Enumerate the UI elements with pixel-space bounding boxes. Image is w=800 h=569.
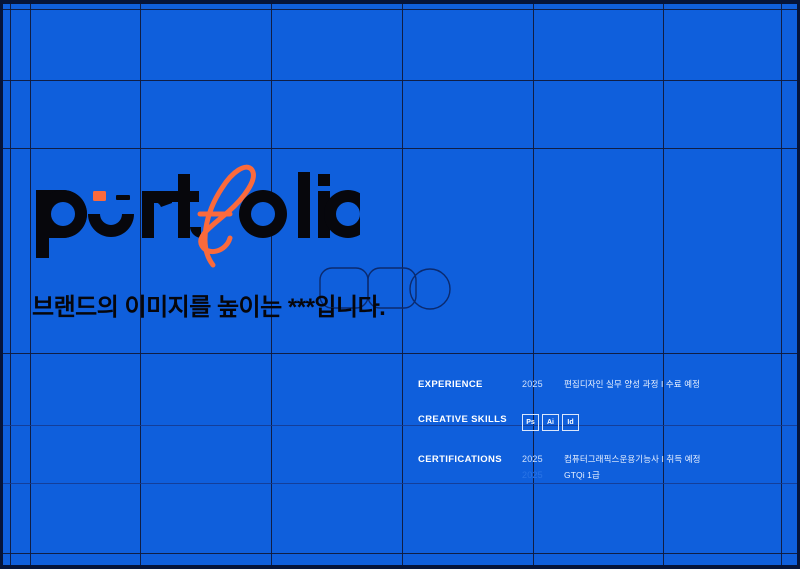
certification-entry-2: 2025 GTQi 1급 (522, 469, 778, 481)
grid-vline (781, 0, 782, 569)
grid-hline (0, 9, 800, 10)
info-desc-certification-1: 컴퓨터그래픽스운용기능사 I 취득 예정 (564, 453, 701, 465)
poster-frame-top (0, 0, 800, 4)
grid-hline (0, 353, 800, 354)
grid-vline (10, 0, 11, 569)
info-row-certifications: CERTIFICATIONS 2025 컴퓨터그래픽스운용기능사 I 취득 예정… (418, 453, 778, 481)
info-label-experience: EXPERIENCE (418, 378, 522, 391)
grid-hline (0, 483, 800, 484)
poster-frame-left (0, 0, 3, 569)
grid-hline (0, 148, 800, 149)
info-year-experience: 2025 (522, 378, 564, 390)
skill-badge-photoshop: Ps (522, 414, 539, 431)
info-row-creative-skills: CREATIVE SKILLS Ps Ai Id (418, 413, 778, 431)
grid-vline (533, 0, 534, 569)
info-year-certification-1: 2025 (522, 453, 564, 465)
info-year-certification-2: 2025 (522, 469, 564, 481)
info-label-creative-skills: CREATIVE SKILLS (418, 413, 522, 426)
info-row-experience: EXPERIENCE 2025 편집디자인 실무 양성 과정 I 수료 예정 (418, 378, 778, 391)
hero-tagline: 브랜드의 이미지를 높이는 ***입니다. (32, 287, 385, 322)
smiley-o-glyph (88, 191, 134, 237)
grid-hline (0, 553, 800, 554)
skill-badge-list: Ps Ai Id (522, 413, 579, 431)
info-label-certifications: CERTIFICATIONS (418, 453, 522, 466)
wordmark-portfolio (30, 150, 360, 280)
hero-wordmark-block (30, 150, 360, 280)
portfolio-poster: 브랜드의 이미지를 높이는 ***입니다. EXPERIENCE 2025 편집… (0, 0, 800, 569)
info-desc-certification-2: GTQi 1급 (564, 469, 600, 481)
grid-vline (663, 0, 664, 569)
info-panel: EXPERIENCE 2025 편집디자인 실무 양성 과정 I 수료 예정 C… (418, 378, 778, 481)
poster-frame-bottom (0, 565, 800, 569)
certification-entry-1: 2025 컴퓨터그래픽스운용기능사 I 취득 예정 (522, 453, 778, 465)
info-desc-experience: 편집디자인 실무 양성 과정 I 수료 예정 (564, 378, 700, 390)
grid-hline (0, 80, 800, 81)
skill-badge-illustrator: Ai (542, 414, 559, 431)
skill-badge-indesign: Id (562, 414, 579, 431)
